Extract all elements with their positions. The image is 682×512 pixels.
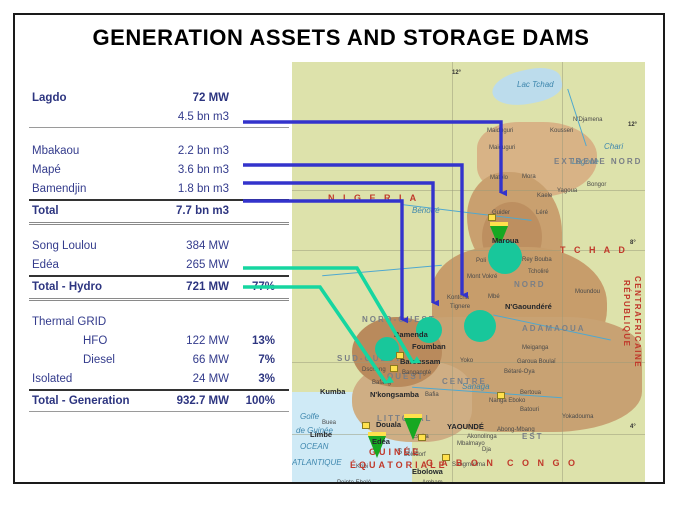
- table-row: Song Loulou 384 MW: [25, 236, 293, 255]
- map-city-label-minor: Léré: [536, 210, 548, 216]
- row-label: Lagdo: [25, 92, 147, 104]
- map-city-label: Kumba: [320, 387, 345, 396]
- row-percent: 77%: [229, 281, 283, 293]
- town-square-icon: [488, 214, 496, 221]
- table-row-total: Total 7.7 bn m3: [25, 201, 293, 220]
- map-city-label: Maroua: [492, 236, 519, 245]
- table-row-total: Total - Hydro 721 MW 77%: [25, 277, 293, 296]
- row-value: 72 MW: [147, 92, 229, 104]
- map-city-label-minor: Mont Vokré: [467, 274, 497, 280]
- map-region-label: ADAMAOUA: [522, 324, 586, 333]
- map-water-label: ATLANTIQUE: [292, 458, 342, 467]
- map-country-label: C O N G O: [507, 458, 578, 468]
- row-label: Total - Hydro: [25, 281, 147, 293]
- row-label: Diesel: [25, 354, 147, 366]
- map-city-label-minor: Ambam: [422, 480, 443, 482]
- map-city-label-minor: Nanga Eboko: [489, 398, 525, 404]
- map-region-label: NORD: [514, 280, 546, 289]
- map-city-label: Douala: [376, 420, 401, 429]
- map-city-label-minor: Tcholiré: [528, 269, 549, 275]
- map-country-label: T C H A D: [560, 245, 628, 255]
- map-city-label-minor: Bangangté: [402, 370, 431, 376]
- map-city-label-minor: Yokadouma: [562, 414, 593, 420]
- map-region-label: EXTREME NORD: [554, 157, 642, 166]
- row-label: Edéa: [25, 259, 147, 271]
- map-city-label: N'Gaoundéré: [505, 302, 552, 311]
- map-water-label: Chari: [604, 142, 623, 151]
- row-value: 7.7 bn m3: [147, 205, 229, 217]
- map-city-label: Limbe: [310, 430, 332, 439]
- map-city-label-minor: Abong-Mbang: [497, 427, 535, 433]
- row-label: Bamendjin: [25, 183, 147, 195]
- table-row-total: Total - Generation 932.7 MW 100%: [25, 391, 293, 410]
- slide-frame: GENERATION ASSETS AND STORAGE DAMS Lagdo…: [13, 13, 665, 484]
- map-city-label-minor: Bertoua: [520, 390, 541, 396]
- map-city-label-minor: Batouri: [520, 407, 539, 413]
- map-city-label-minor: Tignere: [450, 304, 470, 310]
- map-region-label: EST: [522, 432, 544, 441]
- table-divider: [29, 411, 289, 412]
- map-city-label-minor: Bafia: [425, 392, 439, 398]
- table-group-storage-dams: Mbakaou 2.2 bn m3 Mapé 3.6 bn m3 Bamendj…: [25, 141, 293, 236]
- town-square-icon: [497, 392, 505, 399]
- row-value: 1.8 bn m3: [147, 183, 229, 195]
- table-row: Mapé 3.6 bn m3: [25, 160, 293, 179]
- graticule-tick-label: 12°: [452, 70, 461, 76]
- row-label: Isolated: [25, 373, 147, 385]
- row-value: 3.6 bn m3: [147, 164, 229, 176]
- map-city-label-minor: Yoko: [460, 358, 473, 364]
- row-percent: 100%: [229, 395, 283, 407]
- table-group-thermal: Thermal GRID HFO 122 MW 13% Diesel 66 MW…: [25, 312, 293, 412]
- graticule-tick-label: 8°: [630, 240, 636, 246]
- table-group-hydro: Song Loulou 384 MW Edéa 265 MW Total - H…: [25, 236, 293, 312]
- table-row: Edéa 265 MW: [25, 255, 293, 274]
- map-country-label-vertical: CENTRAFRICAINE: [633, 276, 642, 368]
- table-row: HFO 122 MW 13%: [25, 331, 293, 350]
- map-city-label: Foumban: [412, 342, 446, 351]
- table-spacer: [25, 299, 293, 312]
- row-value: 384 MW: [147, 240, 229, 252]
- table-row: 4.5 bn m3: [25, 107, 293, 126]
- map-city-label-minor: Poli: [476, 258, 486, 264]
- page-title: GENERATION ASSETS AND STORAGE DAMS: [15, 25, 667, 51]
- map-city-label-minor: Dja: [482, 447, 491, 453]
- river-cross: [322, 265, 442, 276]
- town-square-icon: [418, 434, 426, 441]
- map-city-label-minor: Maiduguri: [489, 145, 515, 151]
- map-city-label-minor: Rey Bouba: [522, 257, 552, 263]
- table-row: Diesel 66 MW 7%: [25, 350, 293, 369]
- map-city-label-minor: Mbalmayo: [457, 441, 485, 447]
- map-city-label-minor: Kousseri: [550, 128, 573, 134]
- row-label: Mapé: [25, 164, 147, 176]
- town-square-icon: [362, 422, 370, 429]
- table-row: Isolated 24 MW 3%: [25, 369, 293, 388]
- row-percent: 3%: [229, 373, 283, 385]
- map-city-label-minor: Dschang: [362, 367, 386, 373]
- lagdo-reservoir-marker: [488, 240, 522, 274]
- table-spacer: [25, 128, 293, 141]
- table-row: Lagdo 72 MW: [25, 88, 293, 107]
- map-city-label-minor: Buea: [322, 420, 336, 426]
- row-value: 24 MW: [147, 373, 229, 385]
- map-city-label: N'kongsamba: [370, 390, 419, 399]
- table-row: Thermal GRID: [25, 312, 293, 331]
- table-spacer: [25, 223, 293, 236]
- map-city-label: Bamenda: [394, 330, 428, 339]
- town-square-icon: [442, 454, 450, 461]
- row-label: Total - Generation: [25, 395, 147, 407]
- row-value: 66 MW: [147, 354, 229, 366]
- generation-assets-table: Lagdo 72 MW 4.5 bn m3 Mbakaou 2.2 bn m3 …: [25, 88, 293, 412]
- map-city-label-minor: Mbé: [488, 294, 500, 300]
- map-city-label-minor: Matolo: [490, 175, 508, 181]
- graticule-line: [292, 190, 645, 191]
- map-water-label: Bénoué: [412, 206, 440, 215]
- map-city-label-minor: Garoua Boulaï: [517, 359, 556, 365]
- map-city-label-minor: Kaele: [537, 193, 552, 199]
- map-city-label: Ebolowa: [412, 467, 443, 476]
- table-row: Bamendjin 1.8 bn m3: [25, 179, 293, 198]
- map-city-label-minor: N'Djamena: [573, 117, 603, 123]
- row-label: HFO: [25, 335, 147, 347]
- table-row: Mbakaou 2.2 bn m3: [25, 141, 293, 160]
- cameroon-map: 12°12°8°4° Lac TchadGolfede GuinéeOCEANA…: [292, 62, 645, 482]
- map-city-label-minor: Meiganga: [522, 345, 548, 351]
- map-city-label-minor: Maiduguri: [487, 128, 513, 134]
- map-water-label: Golfe: [300, 412, 319, 421]
- row-label: Song Loulou: [25, 240, 147, 252]
- row-percent: 13%: [229, 335, 283, 347]
- graticule-tick-label: 4°: [630, 424, 636, 430]
- row-label: Total: [25, 205, 147, 217]
- row-label: Thermal GRID: [25, 316, 147, 328]
- map-water-label: Lac Tchad: [517, 80, 554, 89]
- map-city-label: YAOUNDÉ: [447, 422, 484, 431]
- map-city-label-minor: Yagoua: [557, 188, 577, 194]
- map-city-label-minor: Akonolinga: [467, 434, 497, 440]
- row-value: 2.2 bn m3: [147, 145, 229, 157]
- map-city-label-minor: Moundou: [575, 289, 600, 295]
- map-city-label-minor: Pointe Ebolé: [337, 480, 371, 482]
- row-value: 932.7 MW: [147, 395, 229, 407]
- mbakaou-reservoir-marker: [464, 310, 496, 342]
- map-country-label-vertical: RÉPUBLIQUE: [622, 280, 631, 347]
- row-value: 122 MW: [147, 335, 229, 347]
- map-water-label: OCEAN: [300, 442, 328, 451]
- map-city-label-minor: Kontcha: [447, 295, 469, 301]
- map-city-label: Bafoussam: [400, 357, 440, 366]
- town-square-icon: [390, 365, 398, 372]
- graticule-tick-label: 12°: [628, 122, 637, 128]
- graticule-line: [452, 62, 453, 482]
- row-label: Mbakaou: [25, 145, 147, 157]
- map-country-label: N I G E R I A: [328, 193, 419, 203]
- row-value: 721 MW: [147, 281, 229, 293]
- table-group-lagdo: Lagdo 72 MW 4.5 bn m3: [25, 88, 293, 141]
- row-value: 4.5 bn m3: [147, 111, 229, 123]
- map-city-label: Edéa: [372, 437, 390, 446]
- row-percent: 7%: [229, 354, 283, 366]
- map-region-label: CENTRE: [442, 377, 487, 386]
- map-city-label-minor: Bongor: [587, 182, 606, 188]
- map-city-label-minor: Mora: [522, 174, 536, 180]
- row-value: 265 MW: [147, 259, 229, 271]
- map-city-label-minor: Bafang: [372, 380, 391, 386]
- map-city-label-minor: Bétaré-Oya: [504, 369, 535, 375]
